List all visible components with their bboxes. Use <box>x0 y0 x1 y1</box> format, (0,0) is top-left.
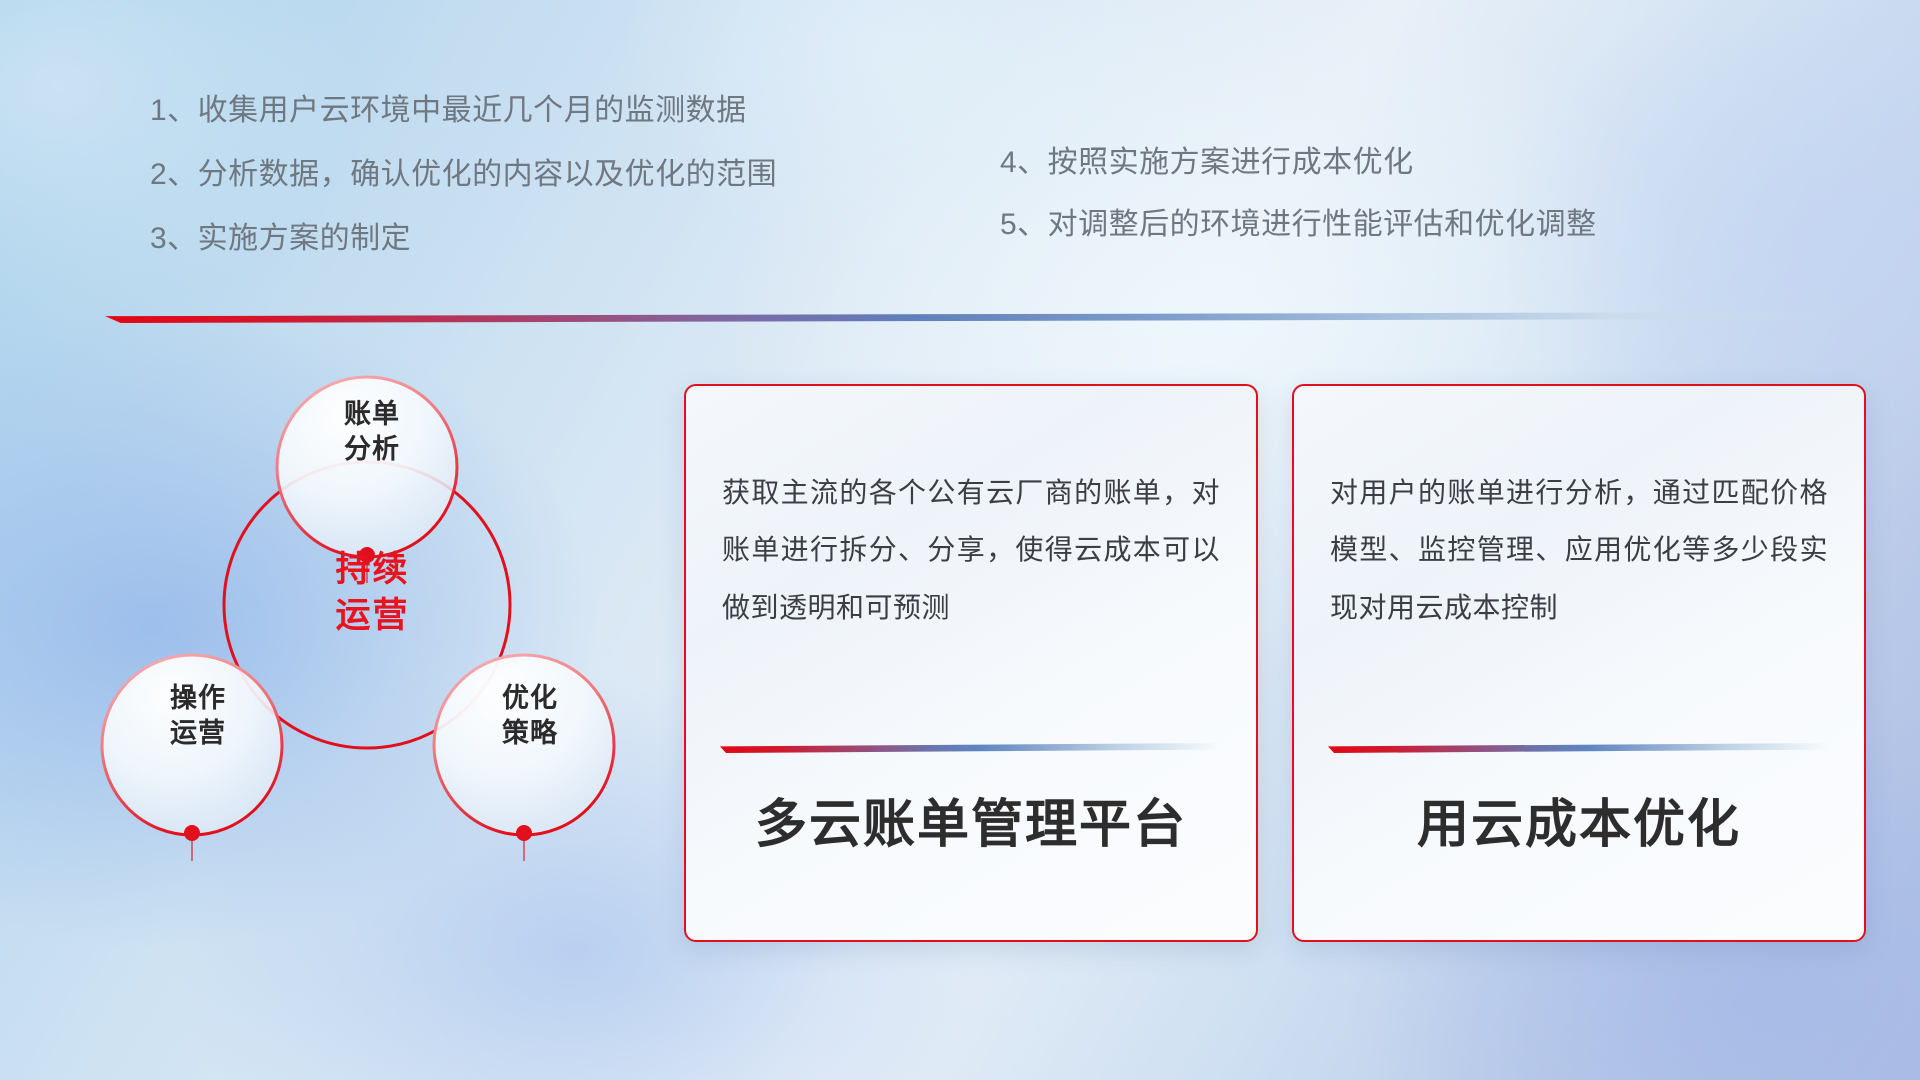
venn-lobe-bill-analysis <box>277 377 457 557</box>
venn-node-dot-bottom-right <box>516 825 532 841</box>
step-item-2: 2、分析数据，确认优化的内容以及优化的范围 <box>150 160 777 190</box>
step-item-3: 3、实施方案的制定 <box>150 224 777 254</box>
feature-card-cloud-cost-optimization[interactable]: 对用户的账单进行分析，通过匹配价格模型、监控管理、应用优化等多少段实现对用云成本… <box>1292 384 1866 942</box>
venn-lobe-operations <box>102 655 282 835</box>
step-item-4: 4、按照实施方案进行成本优化 <box>1000 148 1597 178</box>
feature-card-multi-cloud-billing-platform[interactable]: 获取主流的各个公有云厂商的账单，对账单进行拆分、分享，使得云成本可以做到透明和可… <box>684 384 1258 942</box>
feature-card-body: 获取主流的各个公有云厂商的账单，对账单进行拆分、分享，使得云成本可以做到透明和可… <box>722 464 1220 636</box>
feature-card-rule <box>1328 743 1828 753</box>
section-divider-bar <box>105 312 1857 323</box>
feature-card-body: 对用户的账单进行分析，通过匹配价格模型、监控管理、应用优化等多少段实现对用云成本… <box>1330 464 1828 636</box>
venn-diagram-svg <box>100 345 660 945</box>
venn-node-dot-bottom-left <box>184 825 200 841</box>
feature-card-rule <box>720 743 1220 753</box>
steps-column-right: 4、按照实施方案进行成本优化 5、对调整后的环境进行性能评估和优化调整 <box>1000 148 1597 272</box>
steps-column-left: 1、收集用户云环境中最近几个月的监测数据 2、分析数据，确认优化的内容以及优化的… <box>150 96 777 288</box>
venn-node-dot-top <box>359 547 375 563</box>
feature-card-title: 用云成本优化 <box>1294 782 1864 857</box>
feature-card-title: 多云账单管理平台 <box>686 782 1256 857</box>
section-divider <box>105 312 1857 323</box>
venn-diagram: 账单 分析 操作 运营 优化 策略 持续 运营 <box>100 345 660 945</box>
step-item-1: 1、收集用户云环境中最近几个月的监测数据 <box>150 96 777 126</box>
venn-lobe-strategy <box>434 655 614 835</box>
step-item-5: 5、对调整后的环境进行性能评估和优化调整 <box>1000 210 1597 240</box>
